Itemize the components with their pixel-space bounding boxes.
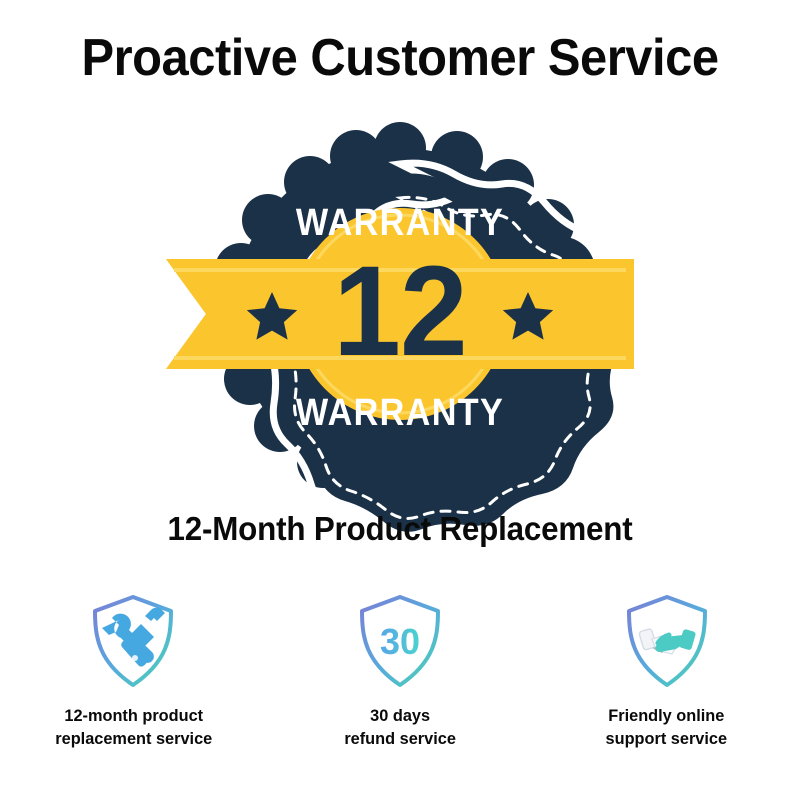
warranty-promo-page: Proactive Customer Service (0, 0, 800, 800)
page-subtitle: 12-Month Product Replacement (20, 508, 780, 550)
badge-number: 12 (333, 240, 466, 383)
shield-tools-icon (87, 592, 179, 690)
feature-item-refund: 30 30 days refund service (277, 592, 522, 750)
feature-label-replacement: 12-month product replacement service (55, 704, 212, 750)
badge-top-label: WARRANTY (296, 200, 504, 243)
feature-label-refund: 30 days refund service (344, 704, 456, 750)
feature-item-support: Friendly online support service (544, 592, 789, 750)
feature-item-replacement: 12-month product replacement service (11, 592, 256, 750)
feature-label-line1: Friendly online (609, 706, 725, 725)
feature-label-line2: support service (606, 727, 728, 750)
feature-label-line1: 30 days (370, 706, 430, 725)
feature-label-line1: 12-month product (64, 706, 203, 725)
badge-bottom-label: WARRANTY (296, 390, 504, 433)
shield-handshake-icon (621, 592, 713, 690)
shield-30-days-icon: 30 (354, 592, 446, 690)
shield-number-30: 30 (380, 621, 420, 662)
page-title: Proactive Customer Service (24, 28, 776, 88)
warranty-badge: WARRANTY 12 WARRANTY (160, 128, 640, 500)
feature-label-support: Friendly online support service (606, 704, 728, 750)
feature-label-line2: refund service (344, 727, 456, 750)
feature-label-line2: replacement service (55, 727, 212, 750)
feature-list: 12-month product replacement service (0, 592, 800, 750)
